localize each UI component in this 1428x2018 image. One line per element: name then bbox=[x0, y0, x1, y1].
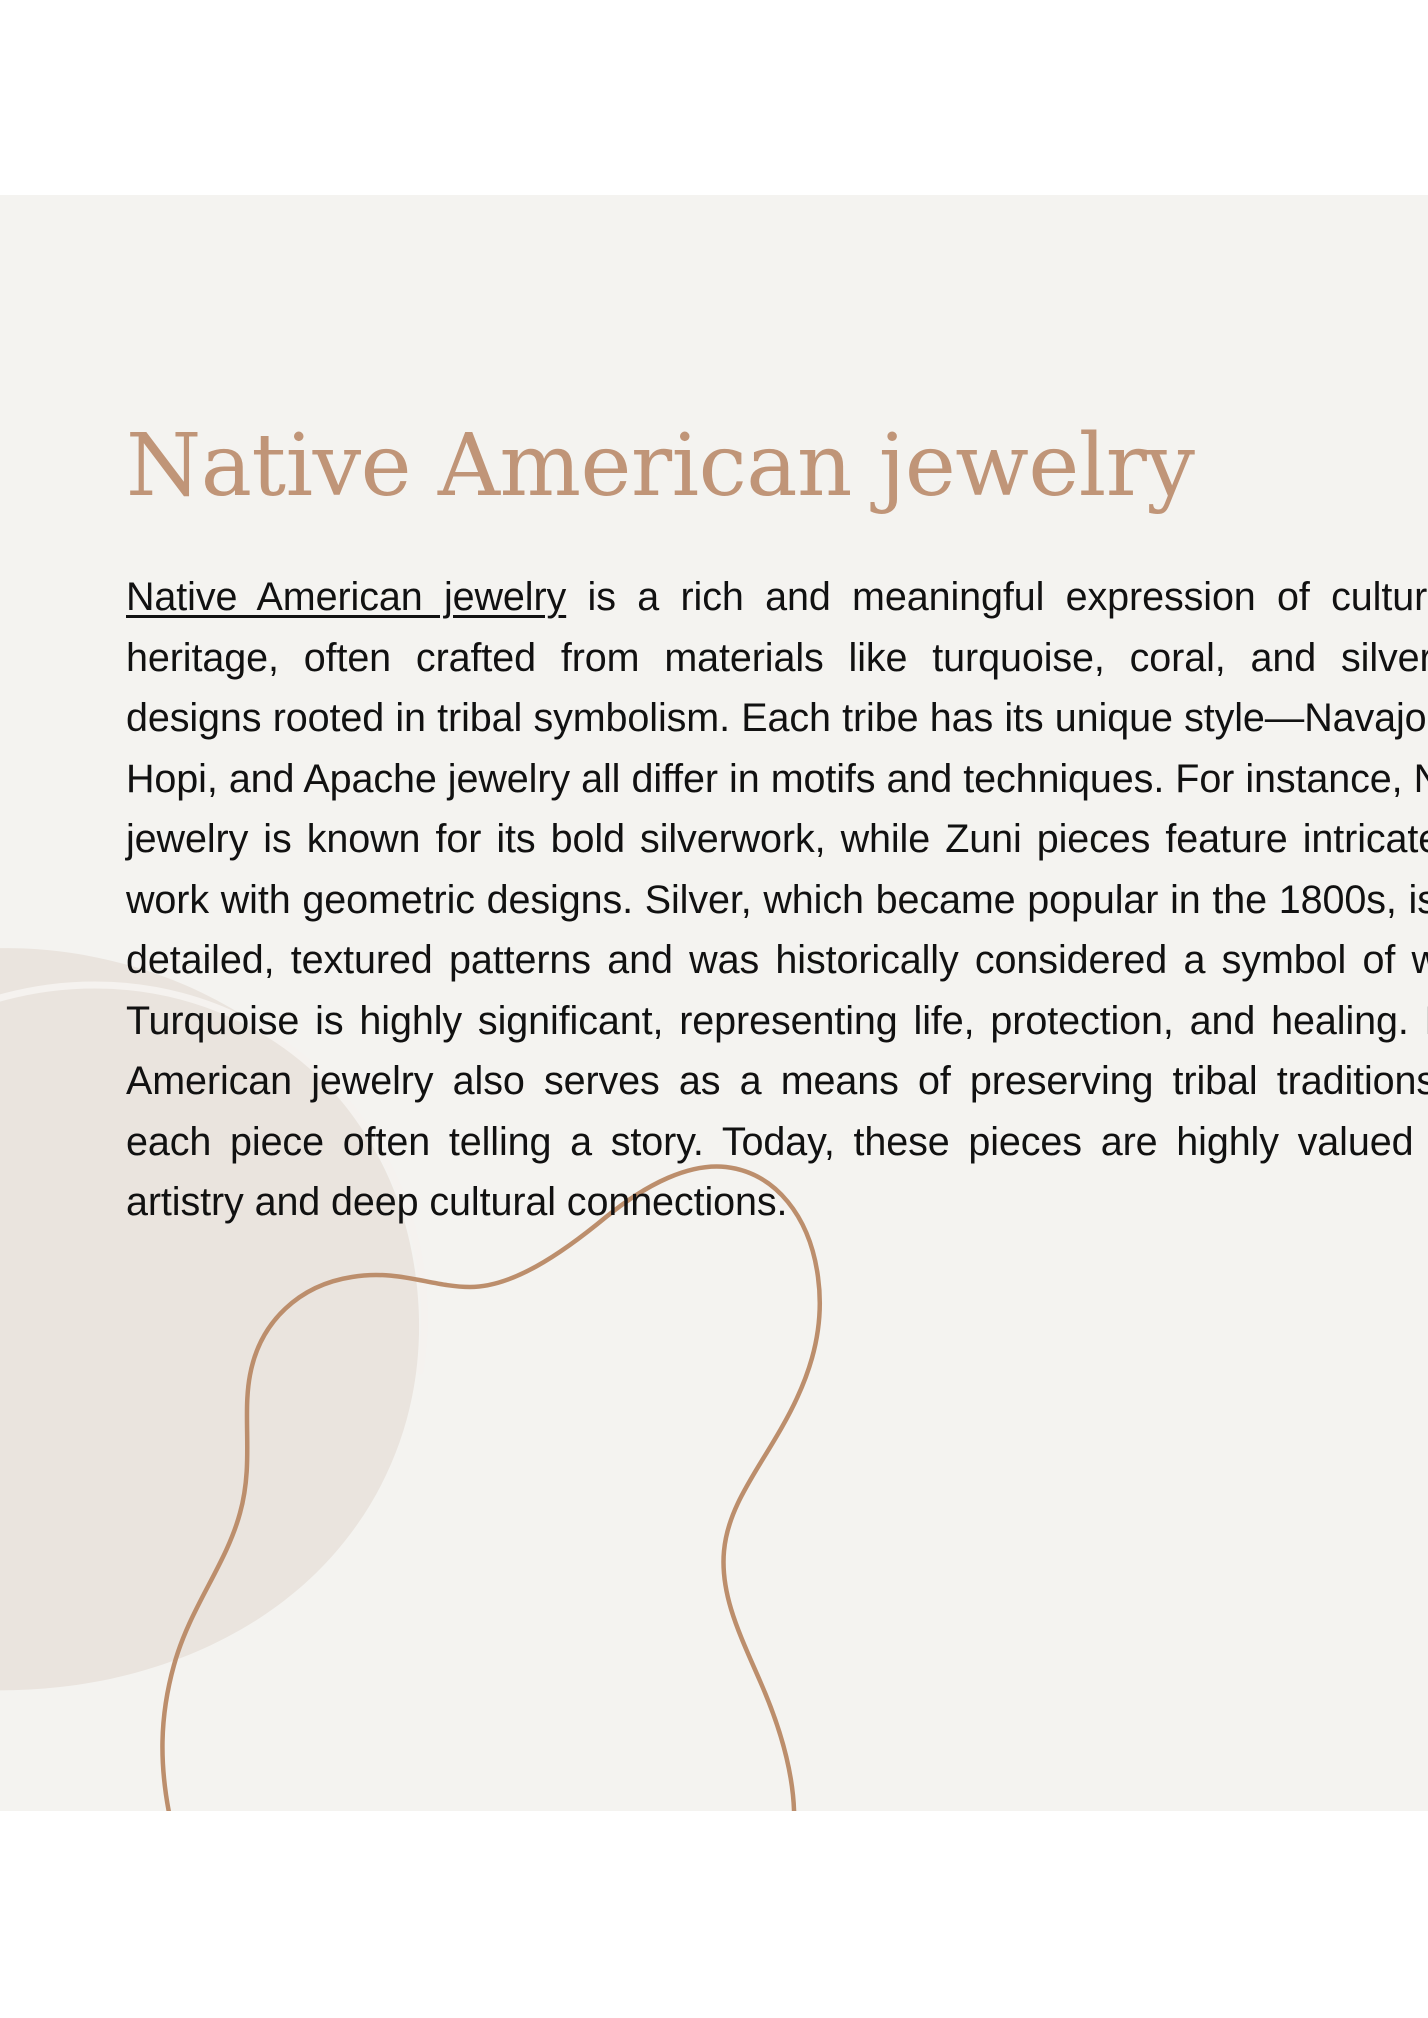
slide-canvas: Native American jewelry Native American … bbox=[0, 195, 1428, 1811]
body-paragraph: Native American jewelry is a rich and me… bbox=[126, 567, 1428, 1233]
lead-phrase-link[interactable]: Native American jewelry bbox=[126, 575, 566, 619]
body-paragraph-text: is a rich and meaningful expression of c… bbox=[126, 575, 1428, 1224]
slide-content: Native American jewelry Native American … bbox=[0, 195, 1428, 1811]
page-root: Native American jewelry Native American … bbox=[0, 0, 1428, 2018]
page-title: Native American jewelry bbox=[126, 423, 1428, 509]
